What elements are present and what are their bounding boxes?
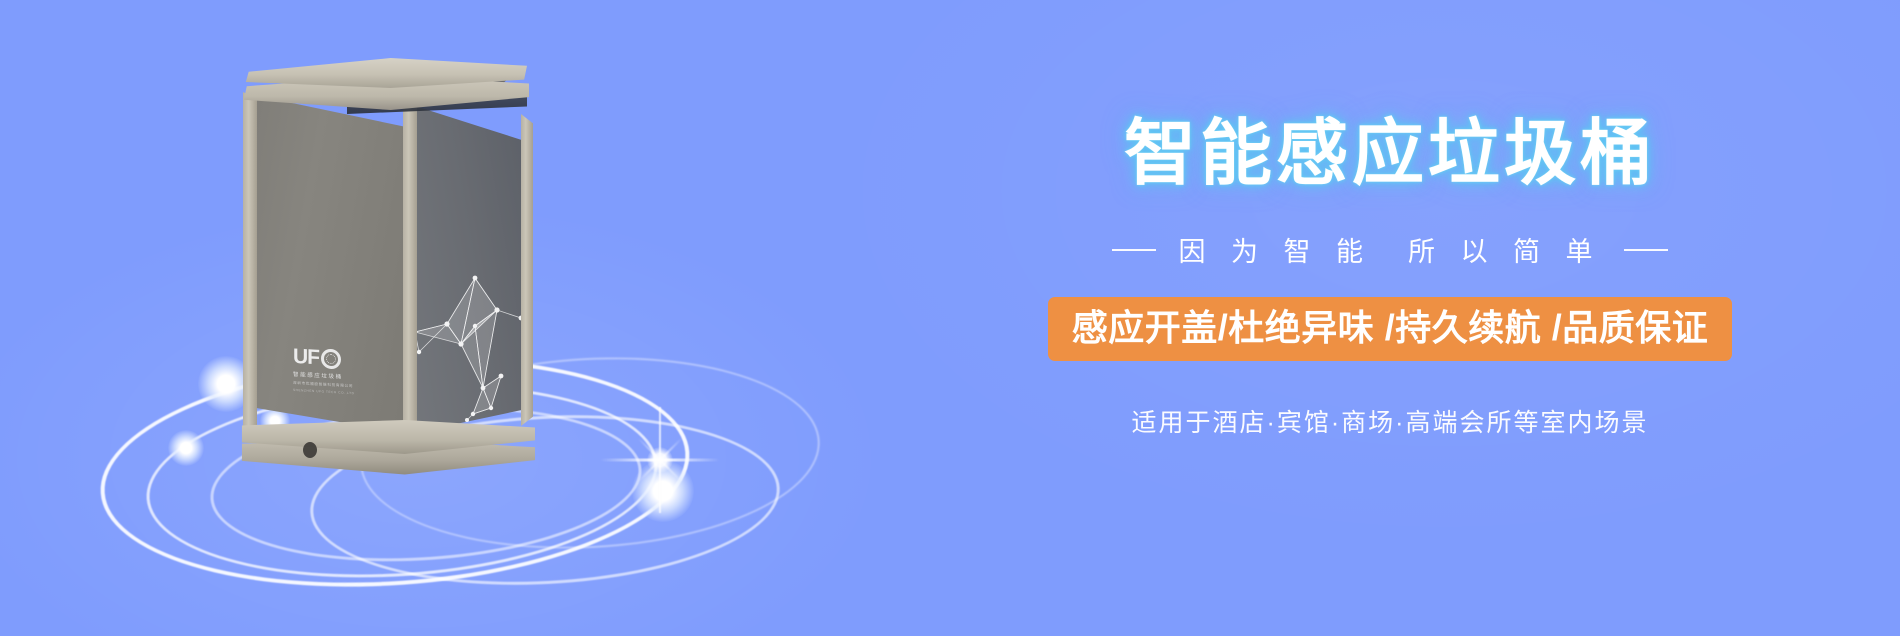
headline: 智能感应垃圾桶 (1124, 118, 1656, 190)
ufo-logo: UF 智能感应垃圾桶 深圳市优福欧智能科技有限公司 SHENZHEN UFO T… (293, 346, 369, 396)
feature-badge: 感应开盖/杜绝异味 /持久续航 /品质保证 (1048, 297, 1733, 361)
product-banner: UF 智能感应垃圾桶 深圳市优福欧智能科技有限公司 SHENZHEN UFO T… (0, 0, 1900, 636)
logo-circle-icon (321, 348, 341, 369)
sparkle-star-icon (600, 400, 720, 520)
trash-bin-product: UF 智能感应垃圾桶 深圳市优福欧智能科技有限公司 SHENZHEN UFO T… (235, 58, 535, 458)
logo-chinese-name: 智能感应垃圾桶 (293, 370, 369, 382)
bin-corner-pillar-front (403, 102, 417, 436)
rule-right-icon (1624, 249, 1668, 251)
logo-wordmark: UF (293, 346, 319, 368)
product-scene: UF 智能感应垃圾桶 深圳市优福欧智能科技有限公司 SHENZHEN UFO T… (0, 0, 880, 636)
polygon-network-graphic (411, 248, 531, 438)
glow-dot-icon (168, 430, 204, 466)
footnote: 适用于酒店·宾馆·商场·高端会所等室内场景 (1132, 403, 1649, 439)
sensor-port-icon (303, 442, 317, 458)
bin-corner-pillar-left (243, 92, 257, 436)
rule-left-icon (1112, 249, 1156, 251)
subtitle-row: 因 为 智 能 所 以 简 单 (1112, 230, 1667, 269)
feature-badge-text: 感应开盖/杜绝异味 /持久续航 /品质保证 (1072, 307, 1709, 348)
copy-block: 智能感应垃圾桶 因 为 智 能 所 以 简 单 感应开盖/杜绝异味 /持久续航 … (880, 0, 1900, 636)
bin-corner-pillar-right (521, 114, 533, 426)
subtitle: 因 为 智 能 所 以 简 单 (1178, 230, 1601, 269)
